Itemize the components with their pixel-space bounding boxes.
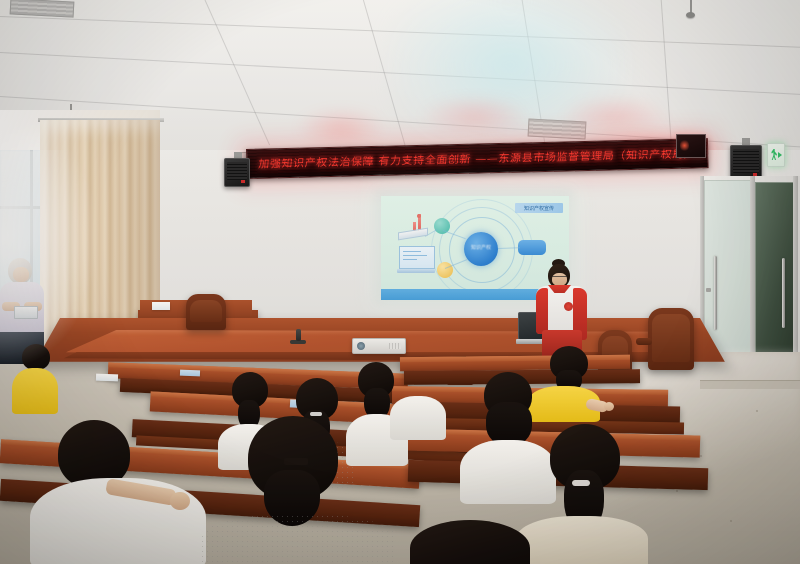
slide-node-pill [518,240,546,255]
child-yellow-left [12,344,58,414]
ceiling-vent-left [10,0,75,18]
microphone [296,329,301,341]
door-handle-right[interactable] [782,258,785,328]
presenter-jacket-red-left [536,288,548,334]
ceiling-vent-right [528,118,587,139]
led-banner-text: 加强知识产权法治保障 有力支持全面创新 ——东源县市场监督管理局（知识产权局） [258,145,697,171]
child-partial-right [390,384,446,440]
desk-paper-blue-1 [180,370,200,377]
executive-chair-1[interactable] [648,308,694,370]
projector-vent [389,343,401,349]
slide-chart-icon [398,212,434,238]
child-front-left-2-hairclip [284,458,308,465]
girl-cream-front-torso [516,516,648,564]
slide-core-circle: 知识产权 [464,232,498,266]
podium-paper [152,302,170,310]
baseboard-right [700,380,800,389]
child-yellow-left-head [22,344,50,370]
child-bottom-center-head [410,520,530,564]
child-front-left-hand [170,492,190,510]
ceiling-light-reflection [390,0,630,150]
child-front-left-2-torso [200,514,396,564]
smoke-detector-right [686,12,695,18]
slide-tag-label: 知识产权宣传 [524,205,554,212]
mobile-phone[interactable] [14,306,38,319]
presenter-glasses [552,276,567,281]
executive-chair-arm [636,338,652,345]
child-bottom-center [410,520,530,564]
speaker-left [224,158,250,187]
door-lock[interactable] [706,288,711,292]
slide-laptop-icon [397,246,435,273]
child-partial-right-torso [390,396,446,440]
door-handle-left[interactable] [714,256,717,330]
exit-arrow-icon [778,152,782,158]
standing-woman-face [13,267,29,282]
slide-tag: 知识产权宣传 [515,203,563,213]
exit-sign [767,143,785,167]
girl-yellow-hand [604,402,614,411]
projector-lens [357,342,365,350]
banner-glow-4 [296,108,386,148]
girl-cream-front-hairtie [572,480,590,486]
girl-cream-front [516,424,648,564]
slide-core-label: 知识产权 [471,246,491,252]
glass-door-right[interactable] [755,182,797,380]
desk-paper-1 [96,374,118,382]
child-yellow-left-torso [12,368,58,414]
child-front-left [30,420,210,564]
presenter-logo [564,302,573,311]
running-man-icon [771,149,777,160]
child-front-left-2 [200,416,396,564]
lecture-room-photo: 加强知识产权法治保障 有力支持全面创新 ——东源县市场监督管理局（知识产权局） [0,0,800,564]
executive-chair-3[interactable] [186,294,226,330]
speaker-right [730,145,762,180]
wall-display-frame [676,134,706,158]
projector [352,338,406,354]
